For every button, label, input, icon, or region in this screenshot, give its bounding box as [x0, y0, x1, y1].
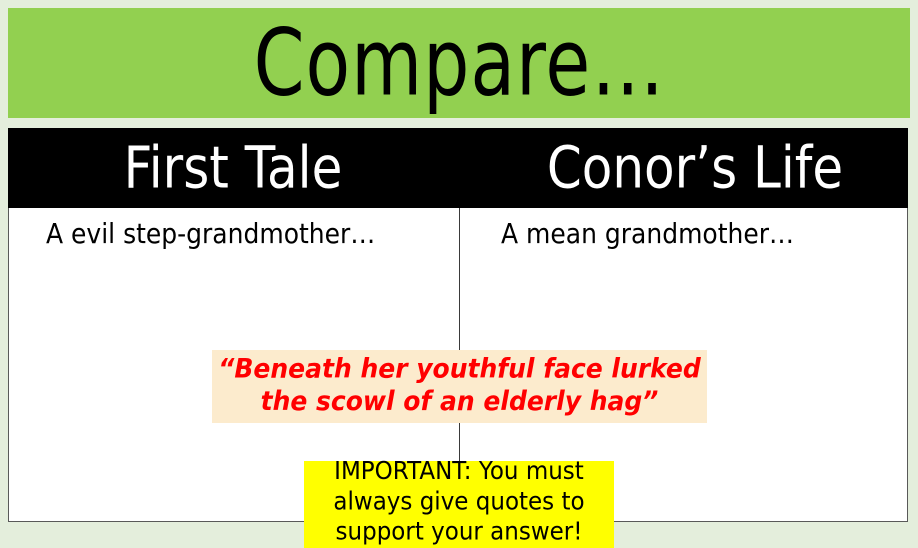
table-header-conors-life: Conor’s Life	[466, 122, 918, 215]
title-banner: Compare…	[8, 8, 910, 118]
important-callout: IMPORTANT: You must always give quotes t…	[304, 461, 614, 548]
table-header-first-tale: First Tale	[8, 122, 466, 215]
important-callout-text: IMPORTANT: You must always give quotes t…	[312, 457, 606, 548]
slide-canvas: Compare… First Tale Conor’s Life A evil …	[0, 0, 918, 532]
quote-callout-text: “Beneath her youthful face lurked the sc…	[218, 353, 701, 417]
table-cell-right-1: A mean grandmother…	[501, 220, 794, 248]
table-body: A evil step-grandmother… A mean grandmot…	[8, 208, 908, 522]
table-header-row: First Tale Conor’s Life	[8, 128, 908, 208]
page-title: Compare…	[253, 17, 665, 110]
table-cell-left-1: A evil step-grandmother…	[46, 220, 375, 248]
quote-callout: “Beneath her youthful face lurked the sc…	[212, 350, 707, 423]
comparison-table: First Tale Conor’s Life A evil step-gran…	[8, 128, 908, 524]
